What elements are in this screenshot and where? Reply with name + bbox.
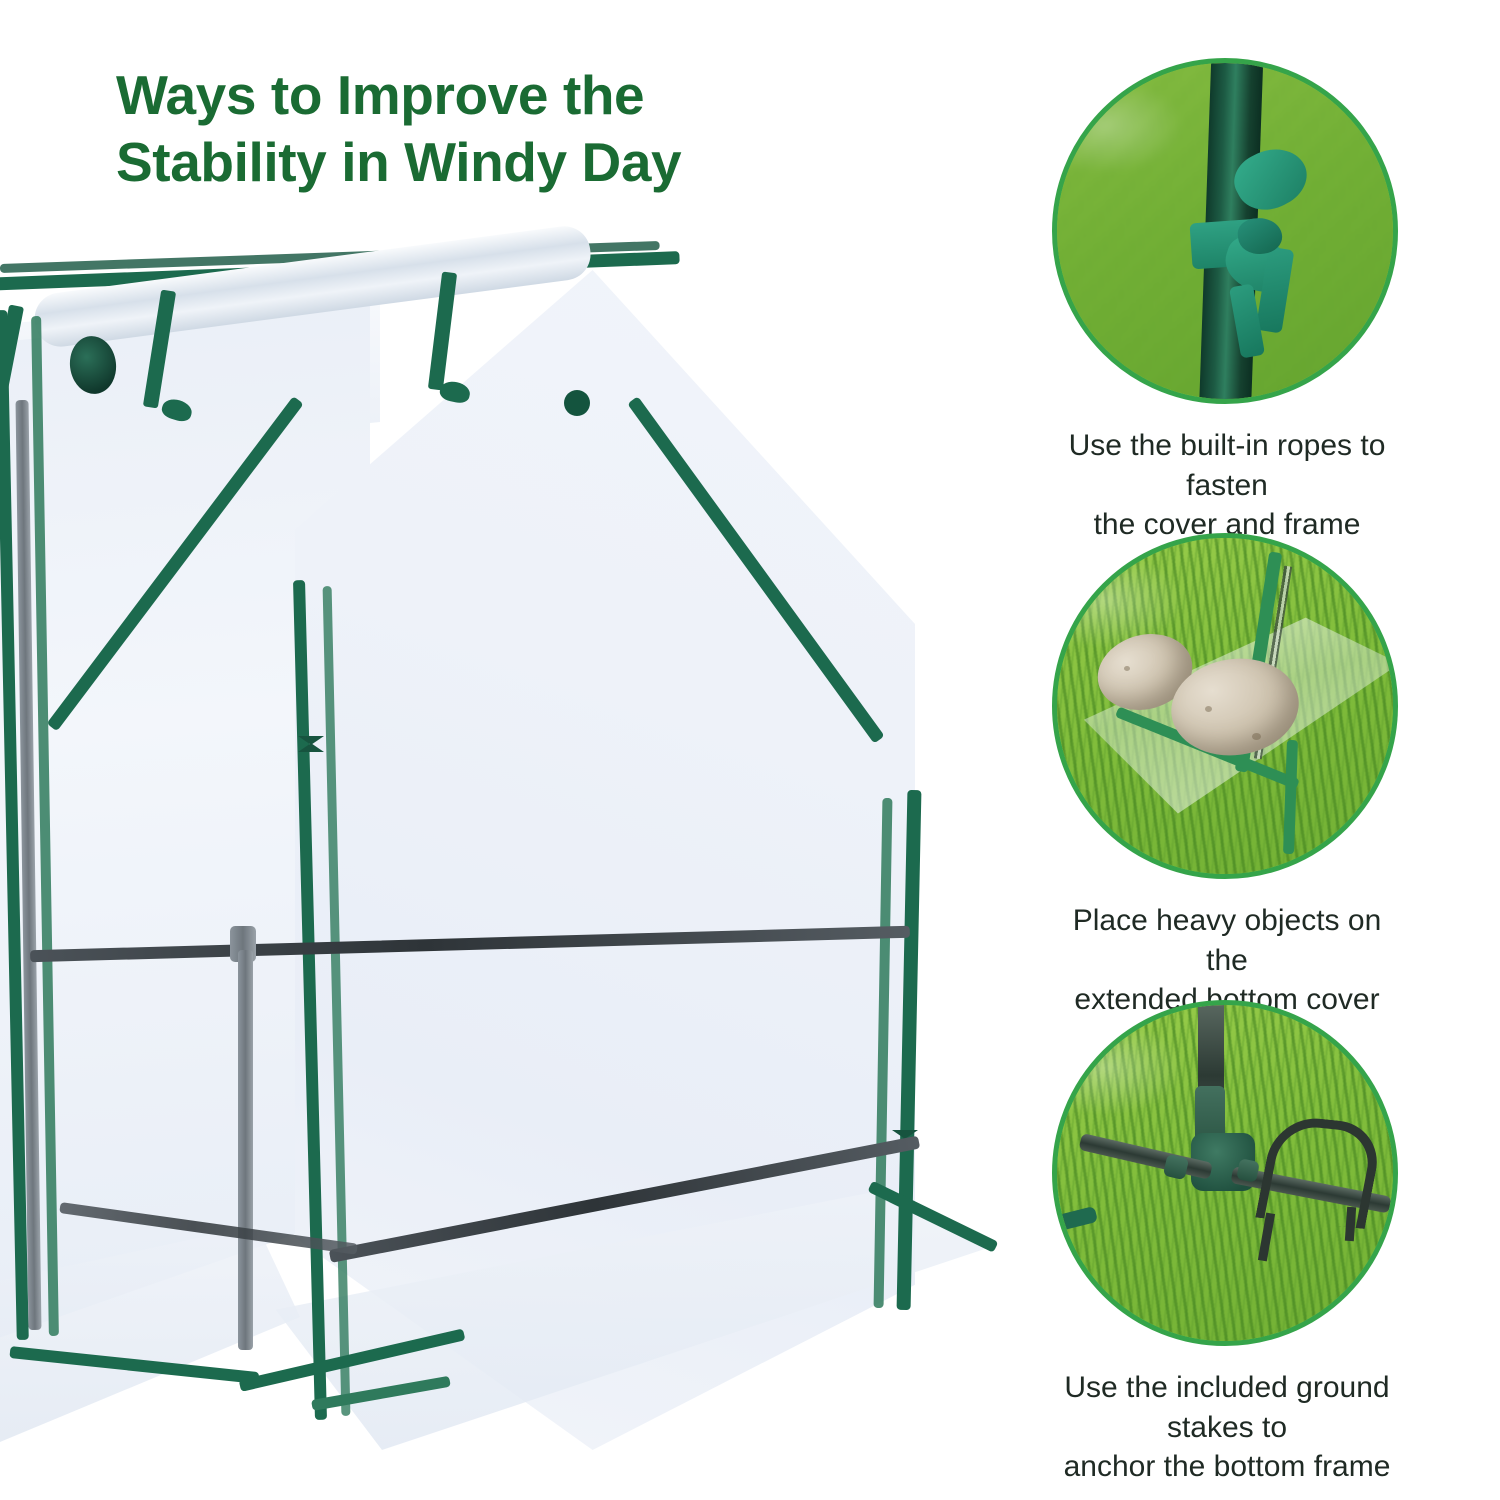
- feature-photo-heavy-objects: [1052, 533, 1398, 879]
- main-product-image: [0, 250, 1030, 1450]
- feature-built-in-ropes: Use the built-in ropes to fasten the cov…: [1052, 58, 1402, 545]
- feature-photo-ropes: [1052, 58, 1398, 404]
- rock-speck: [1252, 733, 1261, 740]
- greenhouse-illustration: [0, 250, 1030, 1450]
- frame-post-interior: [238, 950, 253, 1350]
- feature-caption-ground-stakes: Use the included ground stakes to anchor…: [1052, 1368, 1402, 1487]
- feature-caption-ropes: Use the built-in ropes to fasten the cov…: [1052, 426, 1402, 545]
- rock-speck: [1205, 706, 1212, 712]
- gable-apex-trim: [564, 390, 590, 416]
- page-title: Ways to Improve the Stability in Windy D…: [116, 62, 836, 196]
- feature-photo-ground-stakes: [1052, 1000, 1398, 1346]
- feature-ground-stakes: Use the included ground stakes to anchor…: [1052, 1000, 1402, 1487]
- rock-speck: [1124, 666, 1130, 671]
- feature-heavy-objects: Place heavy objects on the extended bott…: [1052, 533, 1402, 1020]
